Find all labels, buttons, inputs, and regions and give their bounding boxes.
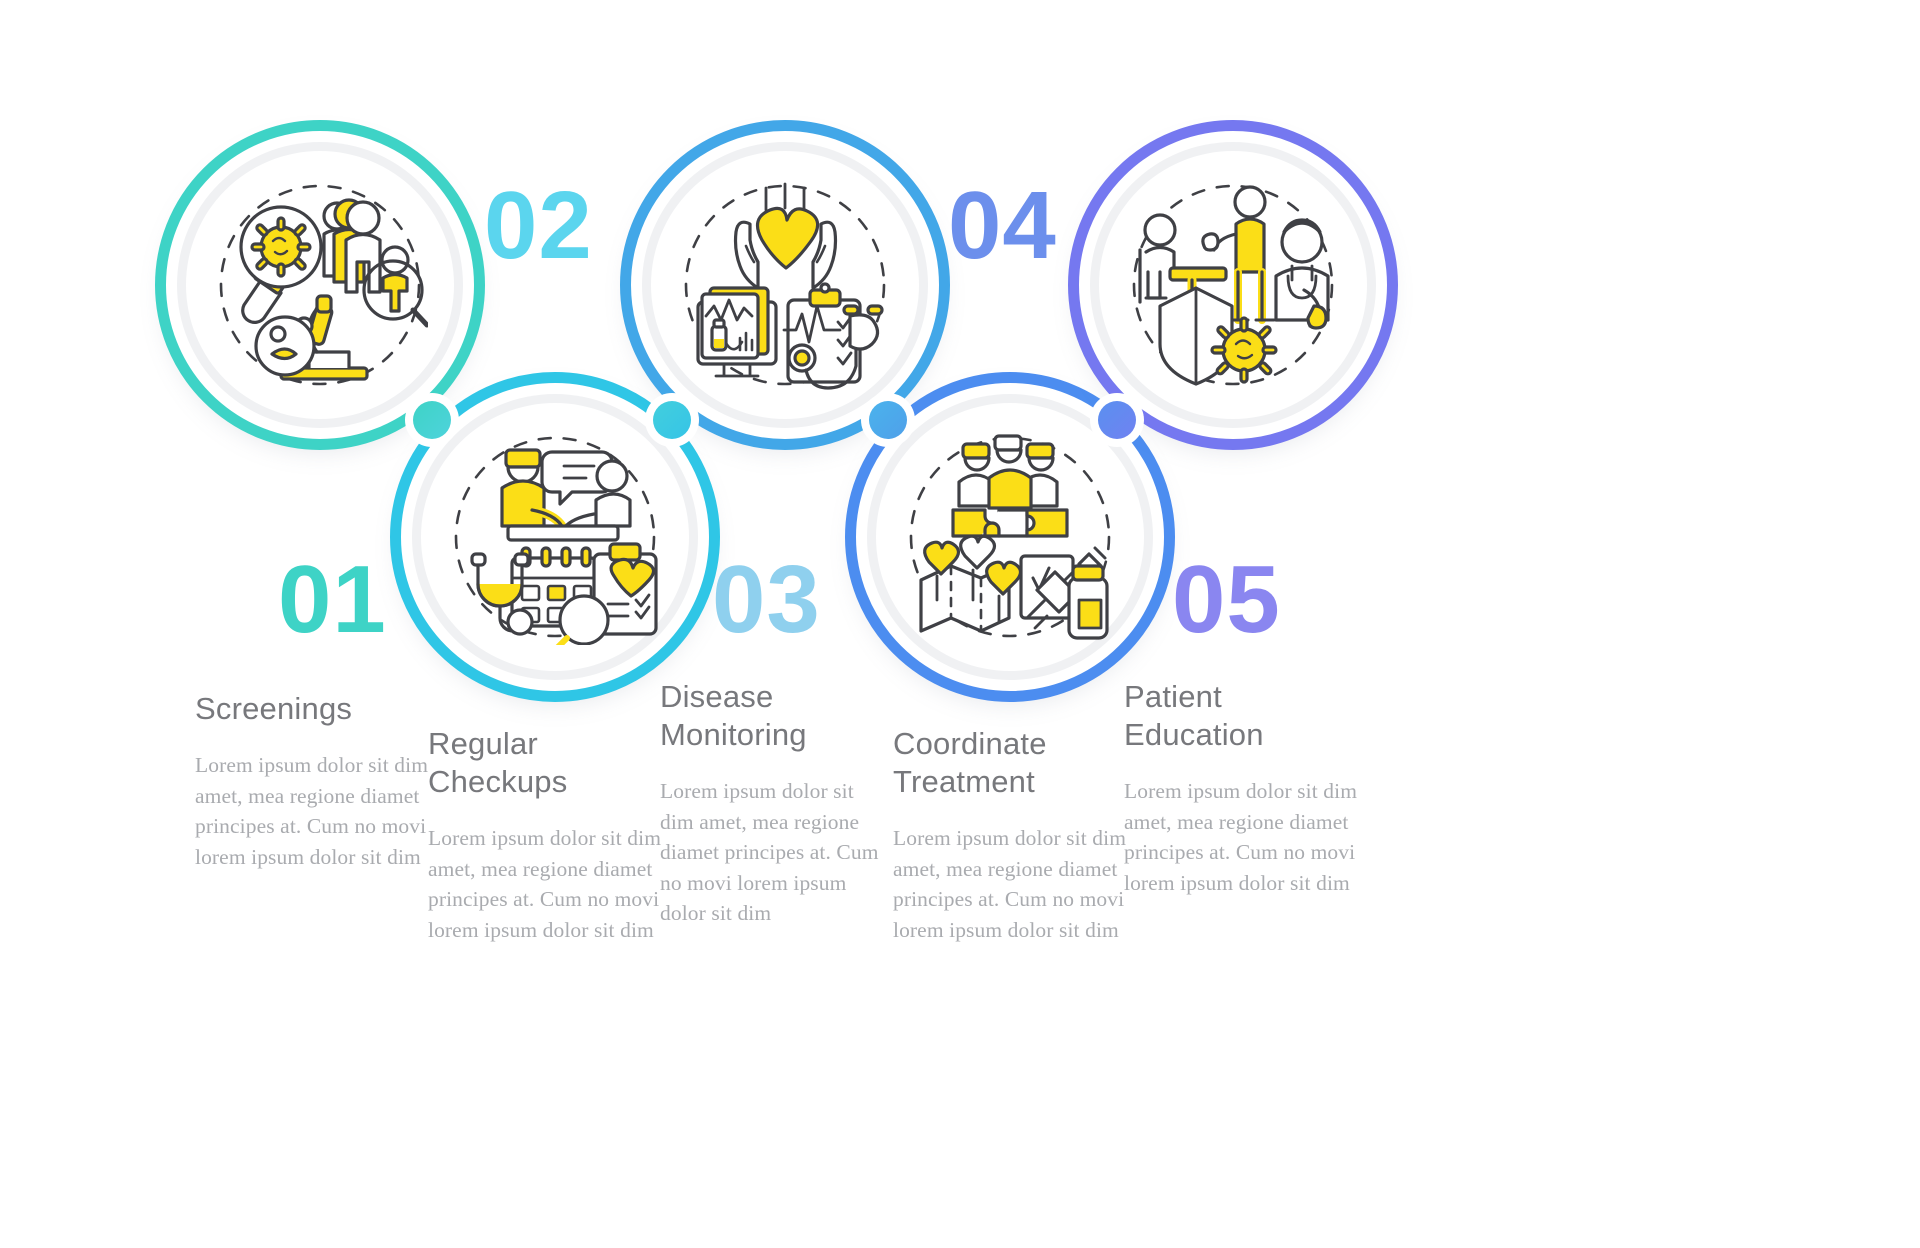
step-number-02: 02 — [484, 178, 593, 274]
connector-node-3-4 — [861, 393, 915, 447]
step-number-05: 05 — [1172, 552, 1281, 648]
step-text-03: Disease Monitoring Lorem ipsum dolor sit… — [660, 678, 892, 929]
connector-node-4-5 — [1090, 393, 1144, 447]
connector-node-1-2 — [405, 393, 459, 447]
step-title-04: Coordinate Treatment — [893, 725, 1129, 801]
step-title-05: Patient Education — [1124, 678, 1362, 754]
step-body-02: Lorem ipsum dolor sit dim amet, mea regi… — [428, 823, 668, 945]
icon-screenings — [177, 142, 463, 428]
circle-inner-01 — [177, 142, 463, 428]
icon-patient-education — [1090, 142, 1376, 428]
step-text-01: Screenings Lorem ipsum dolor sit dim ame… — [195, 690, 435, 872]
step-title-01: Screenings — [195, 690, 435, 728]
icon-disease-monitoring — [642, 142, 928, 428]
circle-inner-03 — [642, 142, 928, 428]
connector-node-2-3 — [645, 393, 699, 447]
step-text-02: Regular Checkups Lorem ipsum dolor sit d… — [428, 725, 668, 945]
step-number-01: 01 — [278, 552, 387, 648]
step-title-02: Regular Checkups — [428, 725, 668, 801]
step-body-01: Lorem ipsum dolor sit dim amet, mea regi… — [195, 750, 435, 872]
circle-inner-05 — [1090, 142, 1376, 428]
step-body-05: Lorem ipsum dolor sit dim amet, mea regi… — [1124, 776, 1362, 898]
step-title-03: Disease Monitoring — [660, 678, 892, 754]
step-number-04: 04 — [948, 178, 1057, 274]
step-text-05: Patient Education Lorem ipsum dolor sit … — [1124, 678, 1362, 898]
step-number-03: 03 — [712, 552, 821, 648]
step-body-03: Lorem ipsum dolor sit dim amet, mea regi… — [660, 776, 892, 929]
step-body-04: Lorem ipsum dolor sit dim amet, mea regi… — [893, 823, 1129, 945]
infographic-canvas: 01 Screenings Lorem ipsum dolor sit dim … — [0, 0, 1920, 1248]
step-text-04: Coordinate Treatment Lorem ipsum dolor s… — [893, 725, 1129, 945]
